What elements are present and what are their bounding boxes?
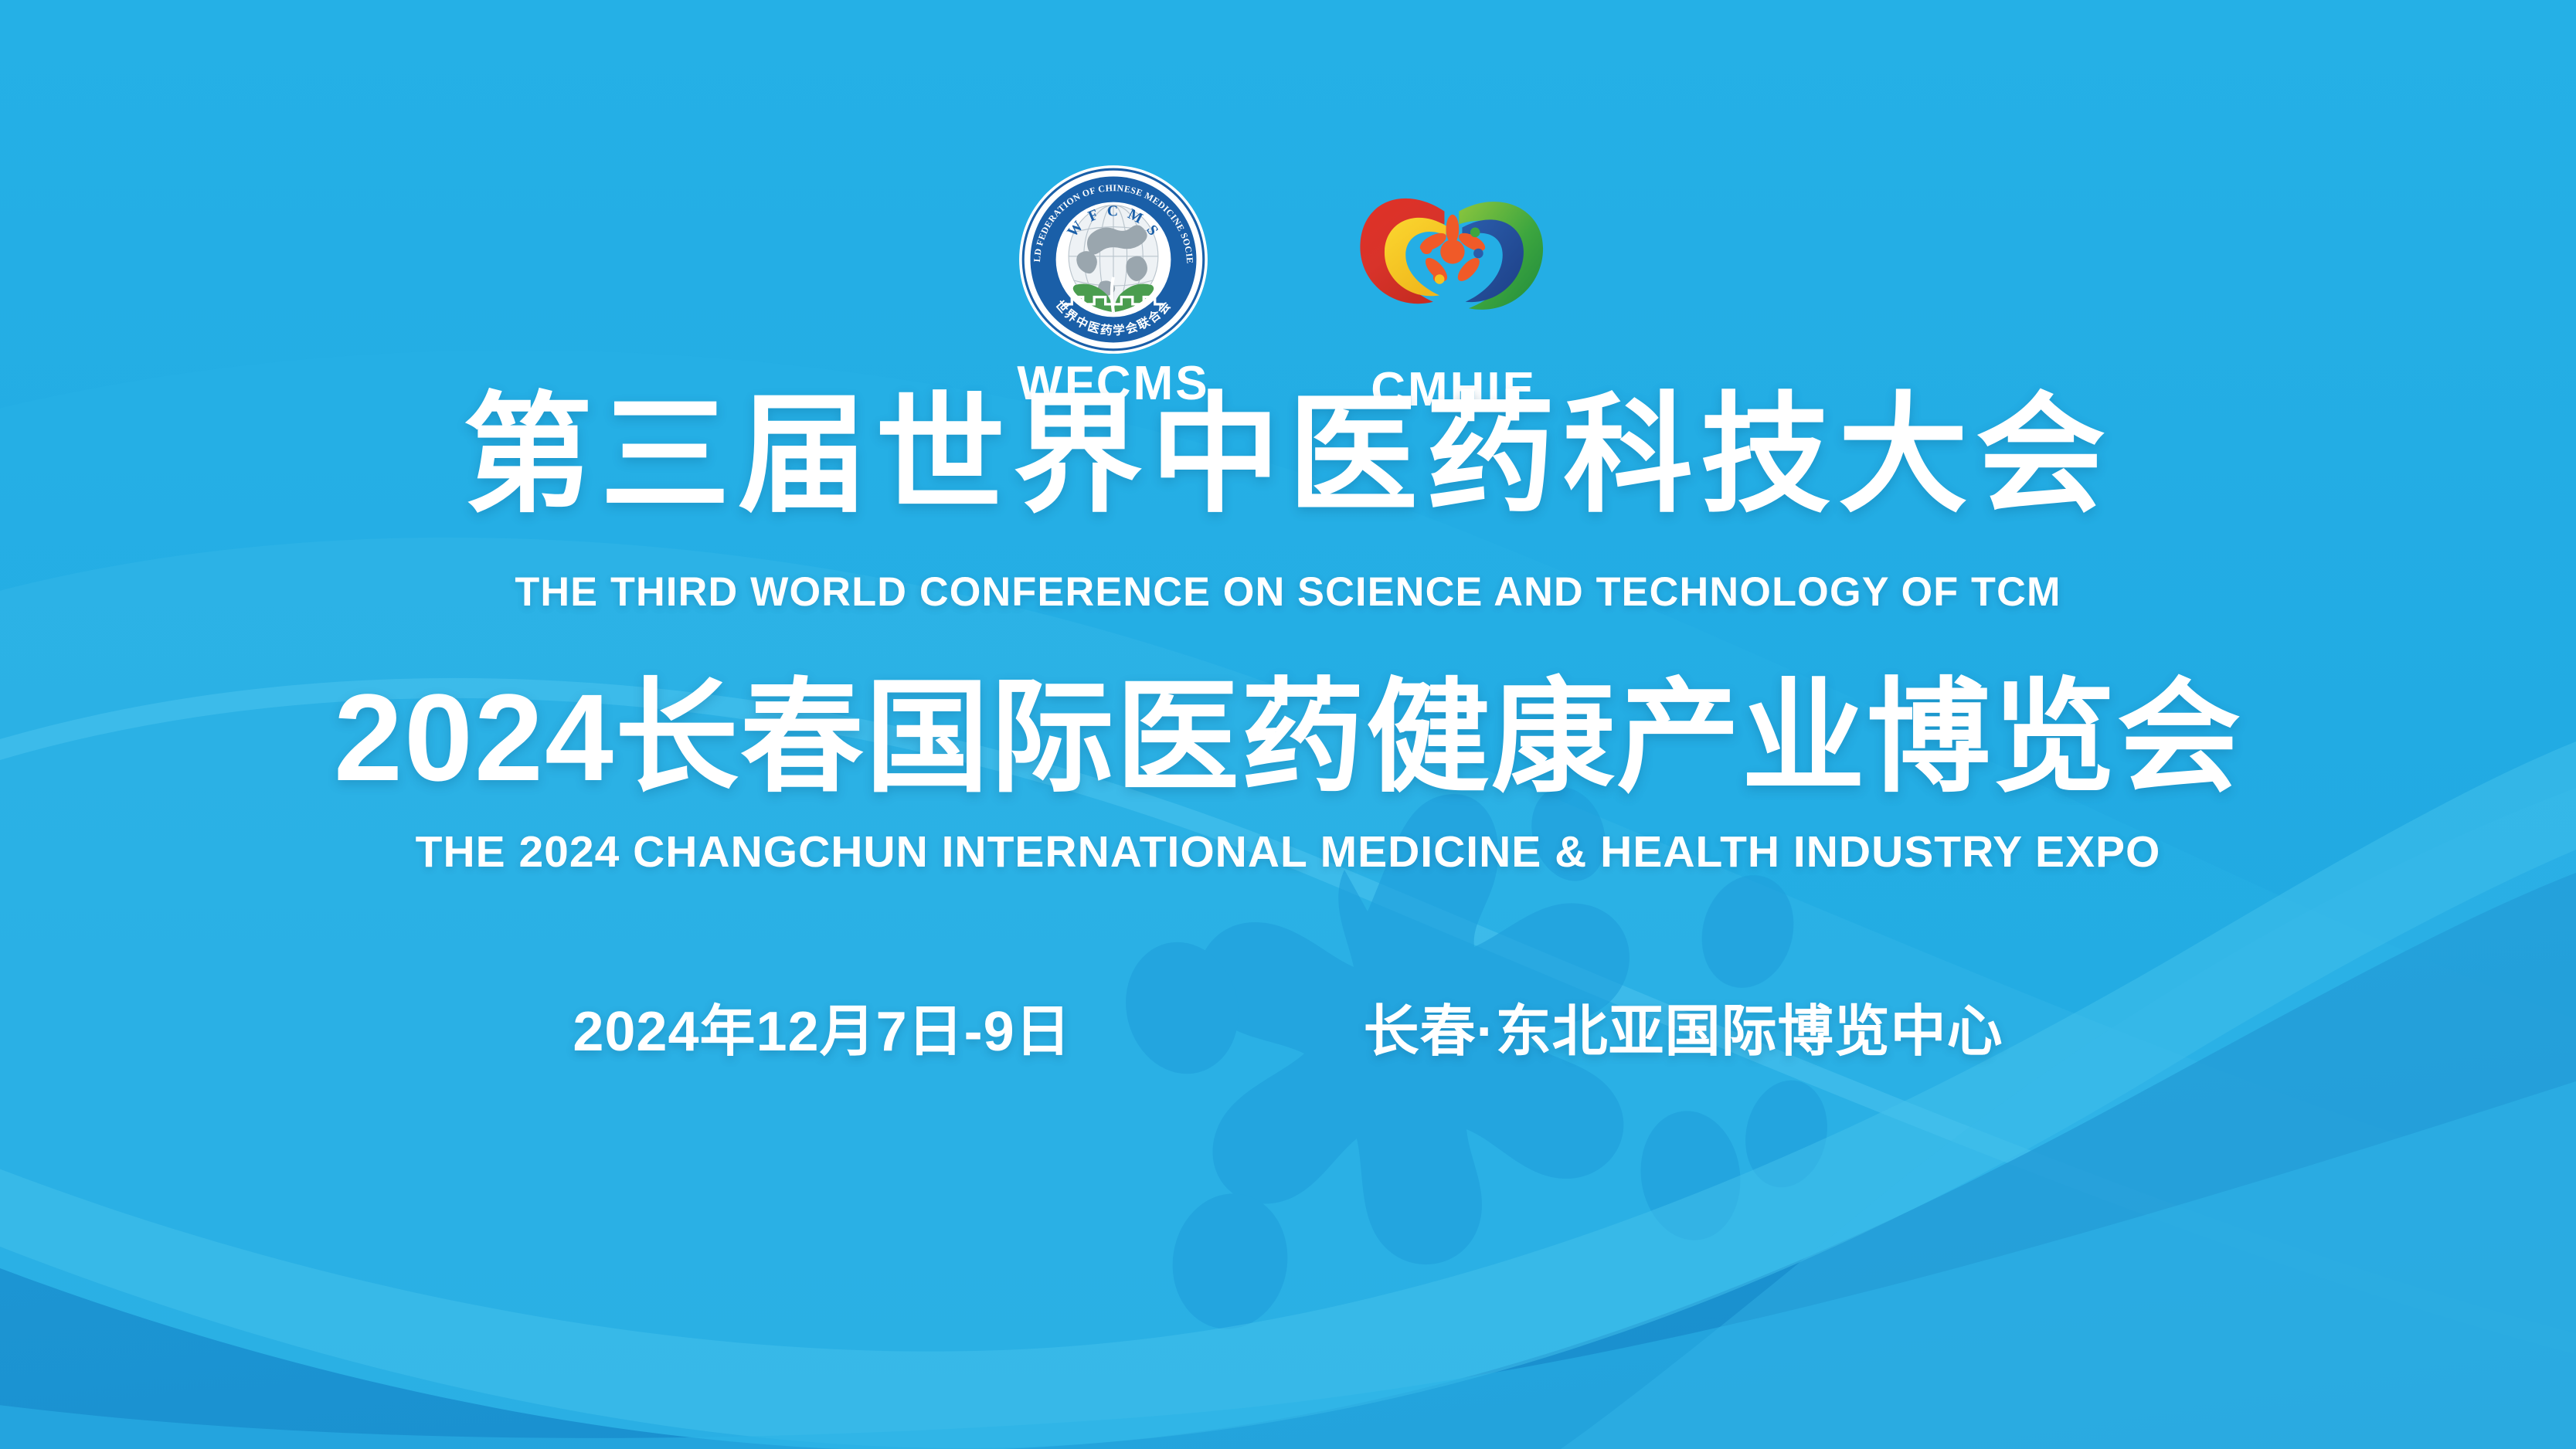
conference-title-en: THE THIRD WORLD CONFERENCE ON SCIENCE AN… xyxy=(19,572,2557,613)
conference-title-cn: 第三届世界中医药科技大会 xyxy=(0,390,2576,520)
event-poster: W F C M S WORLD FEDERATION OF CHINESE ME… xyxy=(0,0,2576,1449)
cmhie-ribbon-icon xyxy=(1349,164,1559,343)
expo-title-cn: 2024长春国际医药健康产业博览会 xyxy=(0,676,2576,799)
event-venue: 长春·东北亚国际博览中心 xyxy=(1364,1004,2003,1060)
logo-wfcms: W F C M S WORLD FEDERATION OF CHINESE ME… xyxy=(1017,164,1209,408)
expo-title-en: THE 2024 CHANGCHUN INTERNATIONAL MEDICIN… xyxy=(0,830,2576,874)
event-meta-row: 2024年12月7日-9日 长春·东北亚国际博览中心 xyxy=(0,1004,2576,1060)
logo-row: W F C M S WORLD FEDERATION OF CHINESE ME… xyxy=(0,164,2576,414)
event-date: 2024年12月7日-9日 xyxy=(573,1004,1071,1060)
wfcms-emblem-icon: W F C M S WORLD FEDERATION OF CHINESE ME… xyxy=(1018,164,1209,355)
logo-cmhie: CMHIE xyxy=(1349,164,1559,414)
